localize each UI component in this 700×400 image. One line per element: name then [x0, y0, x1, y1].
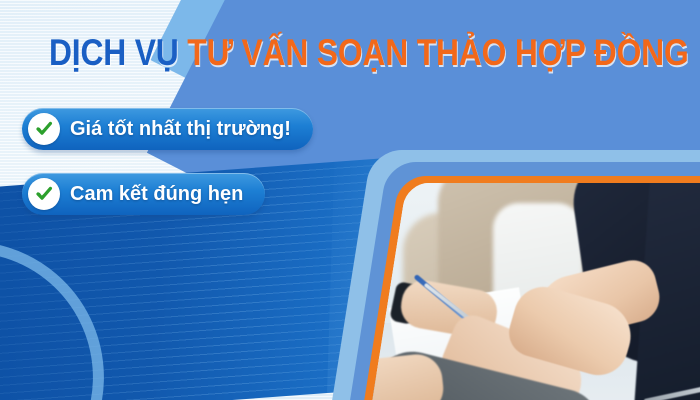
feature-pill-on-time[interactable]: Cam kết đúng hẹn: [22, 173, 265, 215]
handshake-photo: CONTRACT: [359, 183, 700, 400]
feature-pill-best-price[interactable]: Giá tốt nhất thị trường!: [22, 108, 313, 150]
check-circle-icon: [28, 178, 60, 210]
feature-pill-label: Cam kết đúng hẹn: [70, 183, 243, 206]
check-circle-icon: [28, 113, 60, 145]
promo-banner: CONTRACT: [0, 0, 700, 400]
banner-headline: DỊCH VỤ TƯ VẤN SOẠN THẢO HỢP ĐỒNG: [49, 30, 651, 76]
feature-pill-label: Giá tốt nhất thị trường!: [70, 118, 291, 141]
photo-inner: CONTRACT: [383, 183, 700, 400]
headline-part-orange: TƯ VẤN SOẠN THẢO HỢP ĐỒNG: [187, 32, 688, 73]
headline-part-blue: DỊCH VỤ: [49, 32, 179, 73]
photo-frame: CONTRACT: [359, 183, 700, 400]
